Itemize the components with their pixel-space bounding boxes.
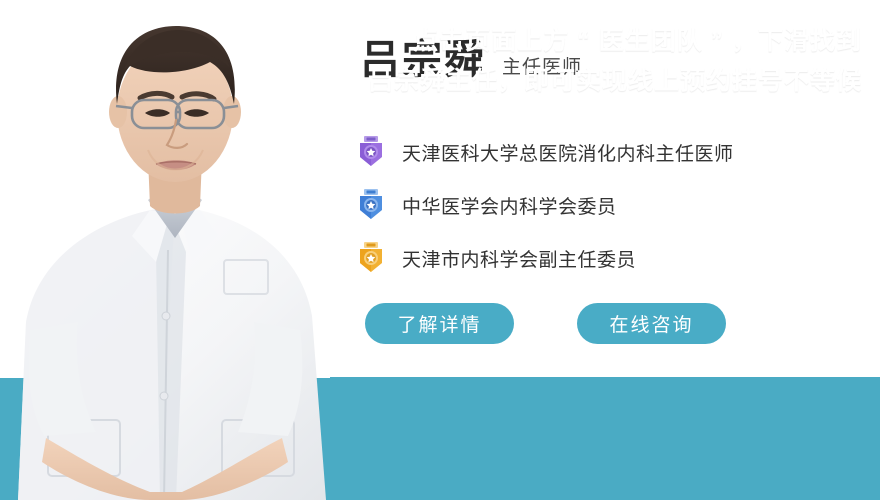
name-row: 吕宗舜 主任医师	[360, 40, 582, 80]
action-buttons: 了解详情 在线咨询	[365, 303, 726, 344]
badge-icon-gold	[358, 242, 384, 274]
credential-item: 中华医学会内科学会委员	[358, 185, 878, 225]
doctor-photo	[0, 0, 330, 500]
badge-icon-blue	[358, 189, 384, 221]
doctor-profile-card: 吕宗舜 主任医师 天津医科大学总医院消化内科主任医师	[0, 0, 880, 500]
credential-list: 天津医科大学总医院消化内科主任医师 中华医学会内科学会委员	[358, 132, 878, 291]
doctor-info-panel: 吕宗舜 主任医师 天津医科大学总医院消化内科主任医师	[356, 0, 880, 378]
doctor-name: 吕宗舜	[360, 40, 486, 80]
doctor-title: 主任医师	[502, 52, 582, 79]
credential-text: 中华医学会内科学会委员	[402, 192, 617, 219]
credential-text: 天津市内科学会副主任委员	[402, 245, 636, 272]
online-consult-button[interactable]: 在线咨询	[577, 303, 726, 344]
credential-text: 天津医科大学总医院消化内科主任医师	[402, 139, 734, 166]
badge-icon-purple	[358, 136, 384, 168]
credential-item: 天津医科大学总医院消化内科主任医师	[358, 132, 878, 172]
credential-item: 天津市内科学会副主任委员	[358, 238, 878, 278]
learn-more-button[interactable]: 了解详情	[365, 303, 514, 344]
doctor-portrait-illustration	[0, 0, 330, 500]
